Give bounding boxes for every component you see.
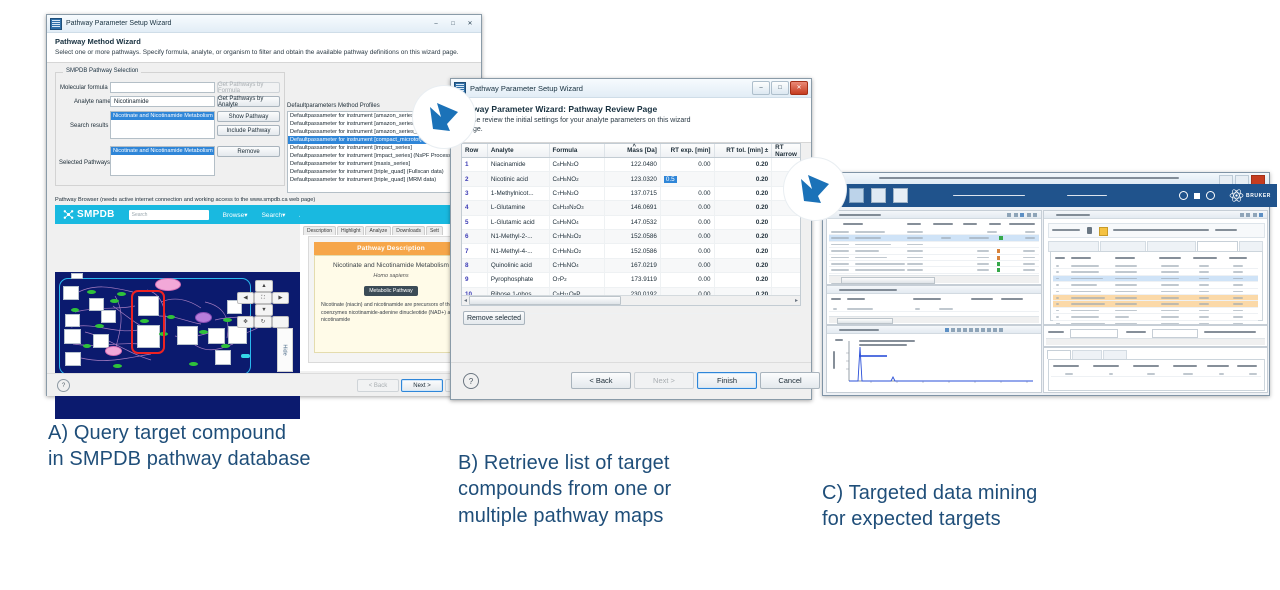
result-summary-table[interactable] <box>1048 359 1265 391</box>
cell-rt-tol[interactable]: 0.20 <box>715 172 773 185</box>
pathway-map-canvas[interactable]: ▲ ◀ ⛶ ▶ ▼ ✥ ↻ Hide <box>55 272 300 419</box>
cell-rt-tol[interactable]: 0.20 <box>715 201 773 214</box>
column-header <box>989 223 1001 225</box>
pathway-type-chip: Metabolic Pathway <box>364 286 418 296</box>
cell-rt-tol[interactable]: 0.20 <box>715 158 773 171</box>
toolbar-icon[interactable] <box>1240 213 1244 217</box>
pan-up-button[interactable]: ▲ <box>255 280 273 292</box>
nav-search[interactable]: Search▾ <box>262 211 286 219</box>
cell-rt-exp[interactable]: 0.00 <box>661 158 715 171</box>
cell-analyte[interactable]: L-Glutamine <box>488 201 550 214</box>
column-header-mass[interactable]: Mass [Da]^ <box>605 144 661 157</box>
label-icon[interactable] <box>975 328 979 332</box>
method-profiles-label: Defaultparameters Method Profiles <box>287 103 380 109</box>
cell-rt-tol[interactable]: 0.20 <box>715 244 773 257</box>
panel-a-footer: ? < Back Next > Finish Cancel <box>47 373 481 396</box>
toolbar-icon[interactable] <box>1014 213 1018 217</box>
include-pathway-button[interactable]: Include Pathway <box>217 125 280 136</box>
cell-mass[interactable]: 147.0532 <box>605 216 661 229</box>
list-item[interactable]: Nicotinate and Nicotinamide Metabolism <box>111 112 214 120</box>
cell-row[interactable]: 3 <box>462 187 488 200</box>
back-button[interactable]: < Back <box>357 379 399 392</box>
cell-mass[interactable]: 173.9119 <box>605 273 661 286</box>
back-button[interactable]: < Back <box>571 372 631 389</box>
cell-row[interactable]: 5 <box>462 216 488 229</box>
pathway-node[interactable] <box>71 273 83 279</box>
list-item[interactable]: Nicotinate and Nicotinamide Metabolism <box>111 147 214 155</box>
selected-pathways-label: Selected Pathways <box>59 160 110 166</box>
pathway-node[interactable] <box>65 352 81 366</box>
cell-formula[interactable]: C5H10N2O3 <box>550 201 606 214</box>
horizontal-scrollbar[interactable] <box>829 316 1039 323</box>
method-color-swatch <box>1099 227 1108 236</box>
column-header-rt-tol[interactable]: RT tol. [min] ± <box>715 144 773 157</box>
filter-input[interactable] <box>1070 329 1118 338</box>
list-item[interactable]: Defaultpassameter for instrument [maxis_… <box>288 160 472 168</box>
cell-rt-narrow[interactable] <box>772 216 800 229</box>
table-row[interactable]: 2Nicotinic acidC6H5NO2123.03200.50.20 <box>462 172 800 186</box>
table-row[interactable]: 31-Methylnicot...C7H9N2O137.07150.000.20 <box>462 187 800 201</box>
table-row[interactable]: 8Quinolinic acidC7H5NO4167.02190.000.20 <box>462 259 800 273</box>
selected-method-rev <box>1215 229 1237 231</box>
cell-analyte[interactable]: 1-Methylnicot... <box>488 187 550 200</box>
cell-rt-tol[interactable]: 0.20 <box>715 230 773 243</box>
task-method-header[interactable] <box>1044 211 1267 219</box>
list-item[interactable]: Defaultpassameter for instrument [impact… <box>288 152 472 160</box>
pathway-node[interactable] <box>64 329 81 344</box>
panel-b-heading: way Parameter Wizard: Pathway Review Pag… <box>473 104 801 114</box>
window-icon <box>50 18 62 30</box>
panel-a-window-title: Pathway Parameter Setup Wizard <box>66 20 171 27</box>
scroll-right-arrow[interactable]: ▸ <box>793 297 800 304</box>
cell-rt-exp[interactable]: 0.00 <box>661 230 715 243</box>
pathway-browser-note: Pathway Browser (needs active internet c… <box>55 197 315 203</box>
stop-icon <box>1194 193 1200 199</box>
cell-rt-tol[interactable]: 0.20 <box>715 216 773 229</box>
result-filter-pane[interactable] <box>1043 325 1268 347</box>
panel-a-titlebar[interactable]: Pathway Parameter Setup Wizard – □ ✕ <box>47 15 481 33</box>
fit-button[interactable]: ⛶ <box>254 292 272 304</box>
analysis-result-pane[interactable] <box>826 210 1042 285</box>
pathway-node[interactable] <box>228 326 247 344</box>
cell-formula[interactable]: C7H8N2O2 <box>550 230 606 243</box>
table-body[interactable]: 1NiacinamideC6H8N2O122.04800.000.202Nico… <box>462 158 800 314</box>
scrollbar-thumb[interactable] <box>837 318 893 324</box>
chromatogram-toolbar[interactable] <box>945 328 1003 332</box>
cell-rt-tol[interactable]: 0.20 <box>715 259 773 272</box>
chromatogram-pane[interactable] <box>826 325 1042 393</box>
table-row[interactable]: 1NiacinamideC6H8N2O122.04800.000.20 <box>462 158 800 172</box>
move-button[interactable]: ✥ <box>237 316 254 328</box>
next-button[interactable]: Next > <box>401 379 443 392</box>
table-column-headers <box>1051 362 1261 369</box>
pathway-description-header: Pathway Description <box>314 242 468 255</box>
panel-b-titlebar[interactable]: Pathway Parameter Setup Wizard – □ ✕ <box>451 79 811 98</box>
table-row[interactable]: 5L-Glutamic acidC5H9NO4147.05320.000.20 <box>462 216 800 230</box>
reset-icon[interactable] <box>981 328 985 332</box>
panel-a-header: Pathway Method Wizard Select one or more… <box>47 33 481 63</box>
cell-rt-tol[interactable]: 0.20 <box>715 187 773 200</box>
get-pathways-by-formula-button[interactable]: Get Pathways by Formula <box>217 82 280 93</box>
panel-a-subtext: Select one or more pathways. Specify for… <box>55 49 473 57</box>
minimize-button[interactable]: – <box>752 81 770 95</box>
caption-a: A) Query target compound in SMPDB pathwa… <box>48 420 311 473</box>
toolbar-icon[interactable] <box>1033 213 1037 217</box>
analysis-icon[interactable] <box>849 188 864 203</box>
panel-b-footer: ? < Back Next > Finish Cancel <box>451 362 811 399</box>
caption-c-line-1: C) Targeted data mining <box>822 480 1037 506</box>
analyte-name-label: Analyte name <box>74 99 111 105</box>
result-summary-pane[interactable] <box>1043 347 1268 393</box>
zoom-icon[interactable] <box>945 328 949 332</box>
scrollbar-thumb[interactable] <box>469 296 621 305</box>
more-icon[interactable] <box>999 328 1003 332</box>
panel-c-window[interactable]: BRUKER <box>822 172 1270 396</box>
filter-note <box>1204 331 1256 333</box>
arrow-down-right-icon <box>798 172 832 206</box>
column-header <box>933 223 953 225</box>
cell-formula[interactable]: O7P2 <box>550 273 606 286</box>
cell-mass[interactable]: 152.0586 <box>605 230 661 243</box>
selected-method-value <box>1113 229 1209 231</box>
bruker-atom-icon <box>1229 189 1244 202</box>
task-method-pane[interactable] <box>1043 210 1268 325</box>
list-item[interactable]: Defaultpassameter for instrument [triple… <box>288 176 472 184</box>
pan-left-button[interactable]: ◀ <box>237 292 254 304</box>
column-header <box>1009 223 1035 225</box>
panel-a-heading: Pathway Method Wizard <box>55 37 473 46</box>
cell-formula[interactable]: C6H8N2O <box>550 158 606 171</box>
pathway-title: Nicotinate and Nicotinamide Metabolism <box>315 256 467 270</box>
panel-b-window-title: Pathway Parameter Setup Wizard <box>470 84 583 93</box>
zoom-out-icon[interactable] <box>957 328 961 332</box>
table-rows[interactable] <box>1053 263 1258 327</box>
panel-c-window-title <box>879 177 1179 179</box>
detailed-analyte-result-header[interactable] <box>827 286 1041 294</box>
next-button[interactable]: Next > <box>634 372 694 389</box>
tab-sum[interactable] <box>1047 350 1071 359</box>
chromatogram-title <box>839 329 879 331</box>
toolbar-icon[interactable] <box>1007 213 1011 217</box>
panel-a-window[interactable]: Pathway Parameter Setup Wizard – □ ✕ Pat… <box>46 14 482 396</box>
tab-settings[interactable]: Sett <box>426 226 443 235</box>
pathway-node[interactable] <box>93 334 109 348</box>
analysis-result-rows[interactable] <box>829 229 1039 275</box>
parameter-label <box>1126 331 1146 333</box>
cell-analyte[interactable]: Pyrophosphate <box>488 273 550 286</box>
panel-b-subtext-1: se review the initial settings for your … <box>473 117 801 126</box>
column-header <box>907 223 921 225</box>
caption-a-line-1: A) Query target compound <box>48 420 311 446</box>
minimize-button[interactable]: – <box>428 18 444 30</box>
molecular-formula-label: Molecular formula <box>60 85 108 91</box>
cell-row[interactable]: 4 <box>462 201 488 214</box>
show-pathway-button[interactable]: Show Pathway <box>217 111 280 122</box>
cell-rt-narrow[interactable] <box>772 230 800 243</box>
cell-mass[interactable]: 167.0219 <box>605 259 661 272</box>
finish-button[interactable]: Finish <box>697 372 757 389</box>
caption-b-line-3: multiple pathway maps <box>458 503 671 529</box>
smpdb-logo: SMPDB <box>63 209 115 220</box>
toolbar-icon[interactable] <box>1246 213 1250 217</box>
column-header <box>963 223 977 225</box>
panel-c-toolbar[interactable]: BRUKER <box>823 184 1277 207</box>
scroll-left-arrow[interactable]: ◂ <box>462 297 469 304</box>
caption-b-line-1: B) Retrieve list of target <box>458 450 671 476</box>
pathway-node[interactable] <box>65 314 80 327</box>
cell-mass[interactable]: 122.0480 <box>605 158 661 171</box>
help-icon[interactable]: ? <box>57 379 70 392</box>
smpdb-brand: SMPDB <box>77 209 115 220</box>
chromatogram-trace-label <box>859 340 915 342</box>
panel-b-header: way Parameter Wizard: Pathway Review Pag… <box>451 98 811 143</box>
analysis-result-pane-header[interactable] <box>827 211 1041 219</box>
status-circle-icon <box>1179 191 1188 200</box>
cell-mass[interactable]: 146.0691 <box>605 201 661 214</box>
cancel-button[interactable]: Cancel <box>760 372 820 389</box>
analysis-result-column-headers <box>829 220 1039 227</box>
toolbar-icon[interactable] <box>1253 213 1257 217</box>
cell-row[interactable]: 9 <box>462 273 488 286</box>
caption-b: B) Retrieve list of target compounds fro… <box>458 450 671 529</box>
help-icon[interactable]: ? <box>463 373 479 389</box>
cell-formula[interactable]: C7H8N2O2 <box>550 244 606 257</box>
method-tabs[interactable] <box>1048 241 1263 250</box>
pathway-description-body: Nicotinate (niacin) and nicotinamide are… <box>315 297 467 325</box>
smpdb-search-input[interactable]: Search <box>129 210 209 220</box>
pathway-node[interactable] <box>101 310 116 323</box>
horizontal-scrollbar[interactable] <box>829 275 1039 283</box>
group-label: SMPDB Pathway Selection <box>63 68 141 74</box>
tab-analyte-settings[interactable] <box>1197 241 1238 251</box>
pathway-node[interactable] <box>215 350 231 365</box>
toolbar-icon[interactable] <box>1259 213 1263 217</box>
next-icon[interactable] <box>987 328 991 332</box>
column-header-rt-exp[interactable]: RT exp. [min] <box>661 144 715 157</box>
cell-analyte[interactable]: L-Glutamic acid <box>488 216 550 229</box>
horizontal-scrollbar[interactable]: ◂ ▸ <box>462 295 800 305</box>
pathway-organism: Homo sapiens <box>315 270 467 279</box>
parameter-input[interactable] <box>1152 329 1198 338</box>
panel-c-sample-label <box>953 195 1025 197</box>
pathway-highlight-box <box>131 290 165 354</box>
scrollbar-thumb[interactable] <box>841 277 935 284</box>
chromatogram-analyte-label <box>859 344 907 346</box>
table-row[interactable]: 7N1-Methyl-4-...C7H8N2O2152.05860.000.20 <box>462 244 800 258</box>
chromatogram-peak-annotation <box>859 355 887 357</box>
column-header <box>843 223 863 225</box>
cell-formula[interactable]: C5H9NO4 <box>550 216 606 229</box>
pan-right-button[interactable]: ▶ <box>272 292 289 304</box>
pathway-node[interactable] <box>208 328 225 344</box>
pathway-node[interactable] <box>63 286 79 300</box>
cell-analyte[interactable]: Nicotinic acid <box>488 172 550 185</box>
detailed-analyte-rows[interactable] <box>829 306 1039 312</box>
description-card-shell: Pathway Description Nicotinate and Nicot… <box>308 236 473 363</box>
network-icon[interactable] <box>871 188 886 203</box>
bruker-wordmark: BRUKER <box>1246 193 1271 199</box>
table-row[interactable]: 4L-GlutamineC5H10N2O3146.06910.000.20 <box>462 201 800 215</box>
horizontal-scrollbar[interactable] <box>1046 338 1265 345</box>
table-row[interactable]: 6N1-Methyl-2-...C7H8N2O2152.05860.000.20 <box>462 230 800 244</box>
table-row[interactable] <box>1051 371 1261 377</box>
analyte-table[interactable]: Row Analyte Formula Mass [Da]^ RT exp. [… <box>461 143 801 306</box>
prev-icon[interactable] <box>993 328 997 332</box>
column-header-row[interactable]: Row <box>462 144 488 157</box>
caption-c-line-2: for expected targets <box>822 506 1037 532</box>
table-column-headers <box>1053 254 1258 261</box>
filter-label <box>1048 331 1064 333</box>
lock-icon <box>1087 227 1092 234</box>
cell-mass[interactable]: 152.0586 <box>605 244 661 257</box>
cell-formula[interactable]: C7H5NO4 <box>550 259 606 272</box>
cell-mass[interactable]: 137.0715 <box>605 187 661 200</box>
analyte-settings-table[interactable] <box>1050 251 1263 321</box>
column-header-formula[interactable]: Formula <box>550 144 606 157</box>
cell-analyte[interactable]: Niacinamide <box>488 158 550 171</box>
chromatogram-pane-header[interactable] <box>827 326 1041 334</box>
selected-method-label <box>1052 229 1080 231</box>
extra-button[interactable] <box>272 316 289 328</box>
arrow-down-right-icon <box>427 100 461 134</box>
cell-rt-narrow[interactable] <box>772 244 800 257</box>
close-button[interactable]: ✕ <box>462 18 478 30</box>
help-icon[interactable] <box>1206 191 1215 200</box>
table-row[interactable]: 9PyrophosphateO7P2173.91190.000.20 <box>462 273 800 287</box>
detail-tabs[interactable]: Description Highlight Analyze Downloads … <box>303 226 444 235</box>
cell-row[interactable]: 2 <box>462 172 488 185</box>
search-results-label: Search results <box>70 123 108 129</box>
pathway-node-cyan[interactable] <box>241 354 250 358</box>
panel-b-window[interactable]: Pathway Parameter Setup Wizard – □ ✕ way… <box>450 78 812 400</box>
pathway-description-card: Nicotinate and Nicotinamide Metabolism H… <box>314 255 468 353</box>
hide-tab-label: Hide <box>282 344 288 355</box>
tab-analyze[interactable]: Analyze <box>365 226 391 235</box>
cell-rt-exp[interactable]: 0.00 <box>661 273 715 286</box>
cell-rt-exp[interactable]: 0.00 <box>661 216 715 229</box>
detailed-analyte-result-title <box>839 289 897 291</box>
arrow-a-to-b <box>413 86 475 148</box>
pan-down-button[interactable]: ▼ <box>255 304 273 316</box>
caption-c: C) Targeted data mining for expected tar… <box>822 480 1037 533</box>
toolbar-icon[interactable] <box>1020 213 1024 217</box>
detail-navbar-extension <box>300 205 473 224</box>
cell-rt-narrow[interactable] <box>772 259 800 272</box>
search-results-list[interactable]: Nicotinate and Nicotinamide Metabolism <box>110 111 215 139</box>
tab-highlight[interactable]: Highlight <box>337 226 364 235</box>
cell-mass[interactable]: 123.0320 <box>605 172 661 185</box>
cell-rt-exp[interactable]: 0.00 <box>661 187 715 200</box>
pane-toolbar-icons[interactable] <box>1007 213 1037 217</box>
maximize-button[interactable]: □ <box>445 18 461 30</box>
cell-rt-exp[interactable]: 0.00 <box>661 244 715 257</box>
detailed-analyte-result-pane[interactable] <box>826 285 1042 325</box>
cell-analyte[interactable]: Quinolinic acid <box>488 259 550 272</box>
toolbar-icon[interactable] <box>1027 213 1031 217</box>
task-method-title <box>1056 214 1090 216</box>
caption-b-line-2: compounds from one or <box>458 476 671 502</box>
y-axis-exponent <box>835 339 843 341</box>
smpdb-network-icon <box>63 209 74 220</box>
maximize-button[interactable]: □ <box>771 81 789 95</box>
select-icon[interactable] <box>969 328 973 332</box>
list-item[interactable]: Defaultpassameter for instrument [triple… <box>288 168 472 176</box>
selected-method-row <box>1048 223 1265 238</box>
reset-button[interactable]: ↻ <box>254 316 272 328</box>
selected-pathways-list[interactable]: Nicotinate and Nicotinamide Metabolism <box>110 146 215 176</box>
arrow-b-to-c <box>784 158 846 220</box>
tab-downloads[interactable]: Downloads <box>392 226 425 235</box>
panel-c-analyte-label <box>1067 195 1107 197</box>
column-header-rt-narrow[interactable]: RT Narrow <box>772 144 800 157</box>
cell-row[interactable]: 6 <box>462 230 488 243</box>
pan-icon[interactable] <box>963 328 967 332</box>
chromatogram-plot[interactable] <box>831 337 1037 389</box>
remove-selected-button[interactable]: Remove selected <box>463 311 525 325</box>
pane-toolbar-icons[interactable] <box>1240 213 1264 217</box>
cell-rt-tol[interactable]: 0.20 <box>715 273 773 286</box>
cell-formula[interactable]: C6H5NO2 <box>550 172 606 185</box>
hide-panel-tab[interactable]: Hide <box>277 328 293 372</box>
get-pathways-by-analyte-button[interactable]: Get Pathways by Analyte <box>217 96 280 107</box>
bruker-logo: BRUKER <box>1229 189 1271 202</box>
analyte-name-input[interactable]: Nicotinamide <box>110 96 215 107</box>
panel-b-subtext-2: ge. <box>473 126 801 135</box>
cell-analyte[interactable]: N1-Methyl-4-... <box>488 244 550 257</box>
cell-row[interactable]: 7 <box>462 244 488 257</box>
cell-rt-narrow[interactable] <box>772 273 800 286</box>
cell-row[interactable]: 8 <box>462 259 488 272</box>
tab-description[interactable]: Description <box>303 226 336 235</box>
molecular-formula-input[interactable] <box>110 82 215 93</box>
pathway-node[interactable] <box>177 326 198 345</box>
caption-a-line-2: in SMPDB pathway database <box>48 446 311 472</box>
cell-analyte[interactable]: N1-Methyl-2-... <box>488 230 550 243</box>
cell-rt-exp[interactable]: 0.00 <box>661 201 715 214</box>
y-axis-label <box>833 351 835 369</box>
table-header-row: Row Analyte Formula Mass [Da]^ RT exp. [… <box>462 144 800 158</box>
nav-browse[interactable]: Browse▾ <box>223 211 248 219</box>
print-icon[interactable] <box>893 188 908 203</box>
cell-row[interactable]: 1 <box>462 158 488 171</box>
cell-formula[interactable]: C7H9N2O <box>550 187 606 200</box>
cell-rt-exp[interactable]: 0.00 <box>661 259 715 272</box>
analysis-result-title <box>839 214 881 216</box>
close-button[interactable]: ✕ <box>790 81 808 95</box>
zoom-in-icon[interactable] <box>951 328 955 332</box>
table-row[interactable] <box>829 306 1039 312</box>
remove-pathway-button[interactable]: Remove <box>217 146 280 157</box>
column-header-analyte[interactable]: Analyte <box>488 144 550 157</box>
cell-rt-exp[interactable]: 0.5 <box>661 172 715 185</box>
pathway-detail-panel: Description Highlight Analyze Downloads … <box>300 205 473 371</box>
